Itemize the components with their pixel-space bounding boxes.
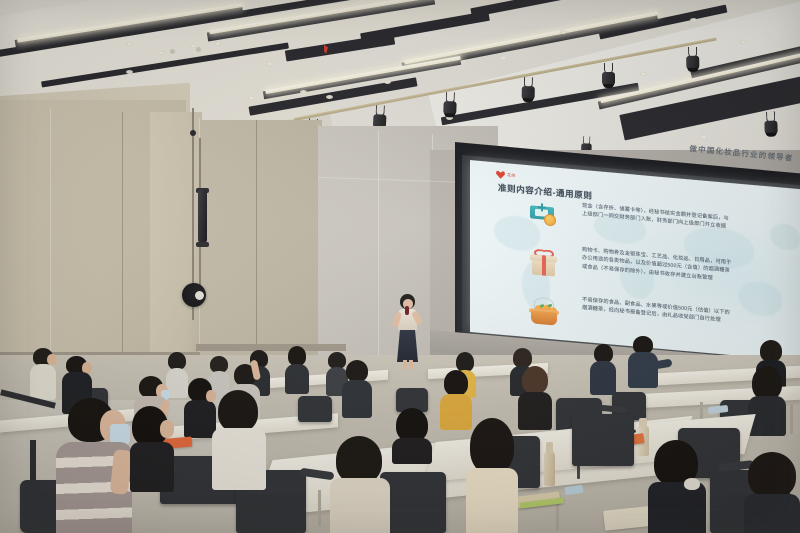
chair [572,414,634,466]
downlight [126,70,133,74]
conference-room-photo: 花嫁 准则内容介绍-通用原则 现金（含存折、储蓄卡等），经秘书核实金额并登记备案… [0,0,800,533]
water-bottle [544,452,555,486]
torso [30,364,56,400]
audience-member [330,436,390,533]
gold-coin-shape [544,214,556,227]
hair [218,390,258,432]
speaker-mount-knob [190,130,196,136]
torso [648,482,706,533]
audience-member [648,440,706,533]
torso [130,442,174,492]
downlight [560,30,567,34]
ribbon-vertical [542,255,546,275]
basket-body [531,310,557,325]
fire-sprinkler [196,47,201,52]
hair [470,418,514,474]
torso [392,438,432,464]
hair [513,348,532,368]
chair [298,396,332,422]
torso [590,361,616,395]
downlight [740,40,747,44]
downlight [384,80,391,84]
presenter-leg [403,360,407,369]
hair [752,366,782,400]
downlight [326,95,333,99]
audience-member [285,346,309,392]
hair [522,366,548,394]
torso [212,428,266,490]
audience-member [590,344,616,394]
wall-clock [182,283,206,307]
fruit-basket-icon [528,295,562,328]
downlight [700,135,707,139]
hair [748,452,796,498]
slide-logo: 花嫁 [496,169,524,181]
chair-leg [30,440,36,480]
audience-member [342,360,372,414]
slide-logo-text: 花嫁 [507,172,516,179]
wall-speaker [198,190,207,242]
downlight [248,96,255,100]
hair [336,436,382,484]
audience-member [518,366,552,426]
downlight [158,51,165,55]
downlight [640,72,647,76]
map-watermark [770,223,800,252]
collar [684,478,700,490]
speaker-bracket-bottom [196,242,209,247]
downlight [266,62,273,66]
audience-member-foreground [56,398,132,533]
table-leg [318,490,321,526]
hair [456,352,474,372]
hair [396,408,428,442]
audience-member [628,336,658,388]
torso [518,392,552,430]
torso [466,468,518,533]
heart-logo-icon [496,170,505,179]
audience-member [212,390,266,486]
audience-member [748,366,786,432]
hair [288,346,306,366]
torso [744,494,800,533]
presenter [396,294,420,372]
fire-sprinkler [170,49,175,54]
pen [577,466,580,479]
downlight [214,42,221,46]
face [160,420,174,438]
hair [444,370,468,396]
audience-member [130,406,174,486]
torso [628,352,658,388]
projection-screen: 花嫁 准则内容介绍-通用原则 现金（含存折、储蓄卡等），经秘书核实金额并登记备案… [470,160,800,362]
slide-title: 准则内容介绍-通用原则 [498,181,592,201]
bottle-cap [639,418,647,428]
downlight [126,42,133,46]
wall-panel-seam [378,130,379,380]
audience-member [392,408,432,460]
audience-member [744,452,800,533]
torso [342,380,372,418]
slide-row-text: 不易保存的食品、副食品、水果等或价值500元（估值）以下的烟酒糖茶，经向秘书报备… [582,296,734,326]
bottle-cap [546,442,553,454]
cash-money-icon [528,199,562,232]
presenter-skirt [397,330,418,362]
torso [285,364,309,394]
downlight [500,56,507,60]
hair [346,360,368,382]
audience-member [30,348,56,398]
presenter-leg [409,360,413,369]
map-watermark [738,280,782,318]
handheld-microphone [405,306,409,315]
table-leg [790,404,793,434]
downlight [300,90,307,94]
torso [330,478,390,533]
downlight [690,18,697,22]
audience-member [466,418,518,533]
hair [760,340,782,362]
gift-box-icon [528,247,562,280]
baseboard [196,344,346,351]
